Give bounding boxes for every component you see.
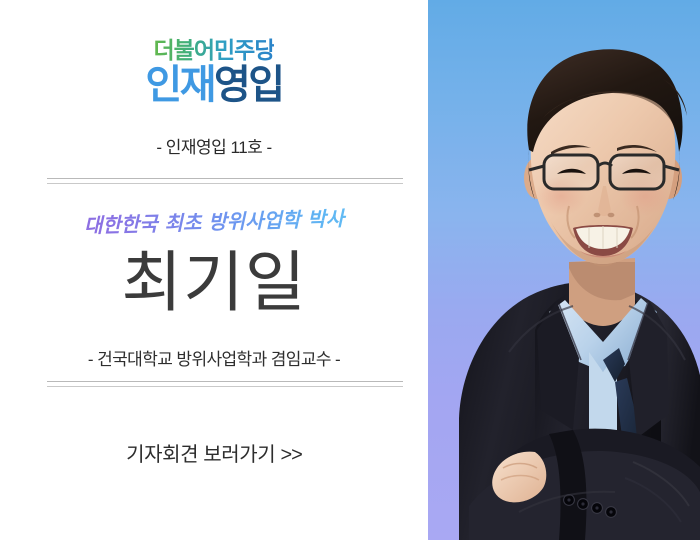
text-column: 더불어민주당 인재영입 - 인재영입 11호 - 대한한국 최초 방위사업학 박… (0, 0, 428, 540)
press-conference-link[interactable]: 기자회견 보러가기 >> (0, 438, 428, 467)
photo-panel (428, 0, 700, 540)
party-name-text: 더불어민주당 (154, 38, 275, 62)
recruit-title: 인재영입 (0, 65, 428, 105)
person-name: 최기일 (0, 246, 428, 320)
party-logo-block: 더불어민주당 인재영입 (0, 38, 428, 105)
cta-label: 기자회견 보러가기 (126, 444, 275, 466)
tagline-handwritten: 대한한국 최초 방위사업학 박사 (0, 200, 428, 241)
double-chevron-right-icon: >> (280, 444, 301, 466)
divider-top (47, 178, 403, 184)
edition-label: - 인재영입 11호 - (0, 133, 428, 158)
person-position: - 건국대학교 방위사업학과 겸임교수 - (0, 345, 428, 370)
recruit-title-segment-1: 인재 (145, 63, 214, 107)
recruitment-banner: 더불어민주당 인재영입 - 인재영입 11호 - 대한한국 최초 방위사업학 박… (0, 0, 700, 540)
recruit-title-segment-2: 영입 (214, 63, 283, 107)
divider-bottom (47, 381, 403, 387)
portrait-illustration (428, 0, 700, 540)
